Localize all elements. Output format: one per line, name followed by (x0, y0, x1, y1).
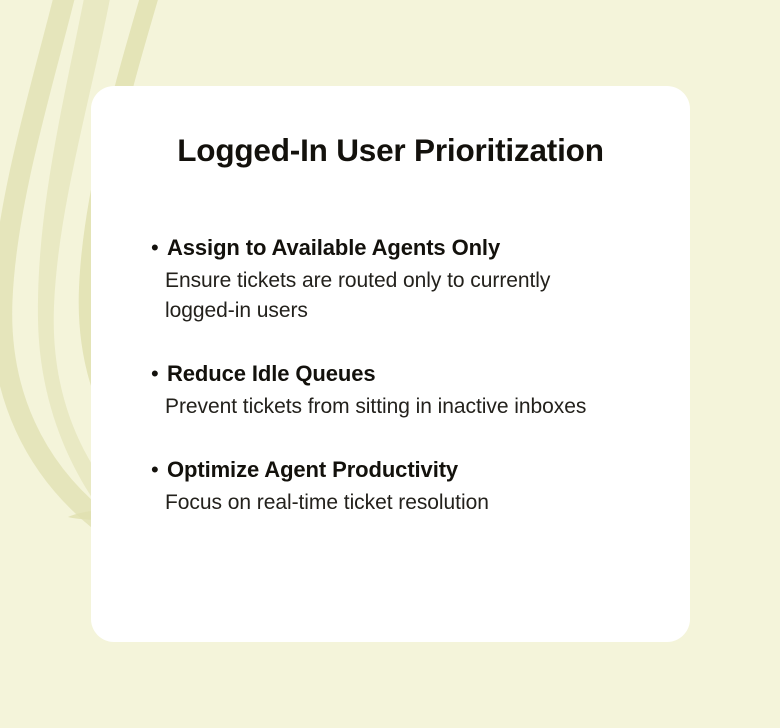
bullet-heading: Reduce Idle Queues (167, 360, 376, 388)
bullet-heading-row: • Reduce Idle Queues (151, 360, 690, 388)
bullet-heading-row: • Optimize Agent Productivity (151, 456, 690, 484)
bullet-dot-icon: • (151, 360, 159, 388)
list-item: • Optimize Agent Productivity Focus on r… (151, 456, 690, 518)
slide-canvas: Logged-In User Prioritization • Assign t… (0, 0, 780, 728)
list-item: • Reduce Idle Queues Prevent tickets fro… (151, 360, 690, 422)
bullet-list: • Assign to Available Agents Only Ensure… (151, 234, 690, 518)
content-card: Logged-In User Prioritization • Assign t… (91, 86, 690, 642)
bullet-description: Focus on real-time ticket resolution (151, 488, 665, 518)
bullet-dot-icon: • (151, 234, 159, 262)
bullet-heading-row: • Assign to Available Agents Only (151, 234, 690, 262)
bullet-dot-icon: • (151, 456, 159, 484)
bullet-description: Ensure tickets are routed only to curren… (151, 266, 615, 326)
card-title: Logged-In User Prioritization (91, 132, 690, 170)
bullet-description: Prevent tickets from sitting in inactive… (151, 392, 665, 422)
bullet-heading: Optimize Agent Productivity (167, 456, 458, 484)
list-item: • Assign to Available Agents Only Ensure… (151, 234, 690, 326)
bullet-heading: Assign to Available Agents Only (167, 234, 500, 262)
